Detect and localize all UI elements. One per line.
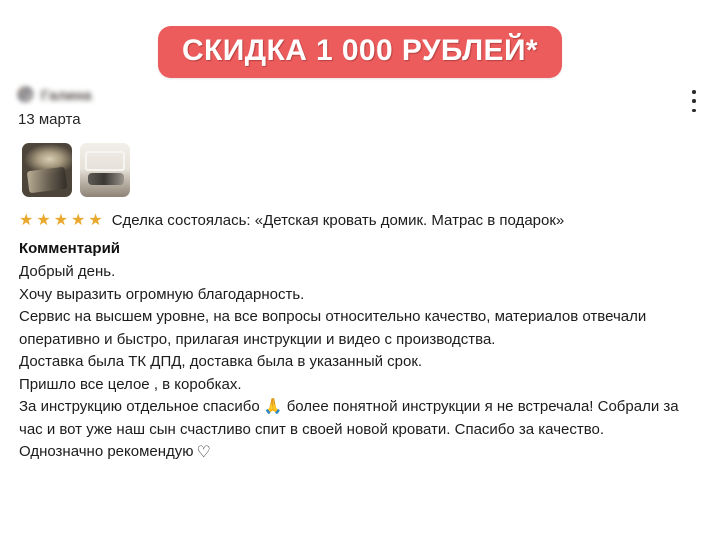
- review-photo-list: [22, 143, 130, 197]
- rating-stars: ★ ★ ★ ★ ★: [19, 213, 103, 229]
- comment-line: Доставка была ТК ДПД, доставка была в ук…: [19, 351, 703, 374]
- promo-banner-container: СКИДКА 1 000 РУБЛЕЙ*: [0, 26, 720, 78]
- comment-line: Хочу выразить огромную благодарность.: [19, 284, 703, 307]
- avito-watermark: Avito: [623, 501, 704, 524]
- rating-row: ★ ★ ★ ★ ★ Сделка состоялась: «Детская кр…: [19, 212, 709, 229]
- review-photo-thumbnail[interactable]: [22, 143, 72, 197]
- review-author-name: Галина: [41, 87, 91, 103]
- star-icon: ★: [19, 213, 33, 229]
- review-photo-thumbnail[interactable]: [80, 143, 130, 197]
- kebab-dot-3: [692, 109, 696, 113]
- avito-wordmark: Avito: [649, 501, 704, 524]
- comment-line: оперативно и быстро, прилагая инструкции…: [19, 329, 703, 352]
- star-icon: ★: [88, 213, 102, 229]
- comment-line: Сервис на высшем уровне, на все вопросы …: [19, 306, 703, 329]
- review-author-row: Галина: [17, 86, 91, 103]
- comment-closing-line: Однозначно рекомендую♡: [19, 441, 703, 465]
- comment-line: За инструкцию отдельное спасибо 🙏 более …: [19, 396, 703, 419]
- comment-heading: Комментарий: [19, 240, 703, 257]
- kebab-menu-icon[interactable]: [684, 88, 704, 114]
- kebab-dot-1: [692, 90, 696, 94]
- review-comment-block: Комментарий Добрый день. Хочу выразить о…: [19, 240, 703, 465]
- comment-line: Добрый день.: [19, 261, 703, 284]
- kebab-dot-2: [692, 99, 696, 103]
- promo-banner: СКИДКА 1 000 РУБЛЕЙ*: [158, 26, 562, 78]
- star-icon: ★: [54, 213, 68, 229]
- comment-line: час и вот уже наш сын счастливо спит в с…: [19, 419, 703, 442]
- star-icon: ★: [71, 213, 85, 229]
- heart-icon: ♡: [197, 444, 211, 461]
- avito-logo-icon: [623, 503, 645, 523]
- star-icon: ★: [36, 213, 50, 229]
- promo-banner-text: СКИДКА 1 000 РУБЛЕЙ*: [182, 35, 538, 67]
- review-date: 13 марта: [18, 111, 81, 128]
- comment-closing-text: Однозначно рекомендую: [19, 443, 194, 460]
- deal-title: Сделка состоялась: «Детская кровать доми…: [112, 212, 565, 229]
- user-avatar-icon: [17, 86, 34, 103]
- comment-line: Пришло все целое , в коробках.: [19, 374, 703, 397]
